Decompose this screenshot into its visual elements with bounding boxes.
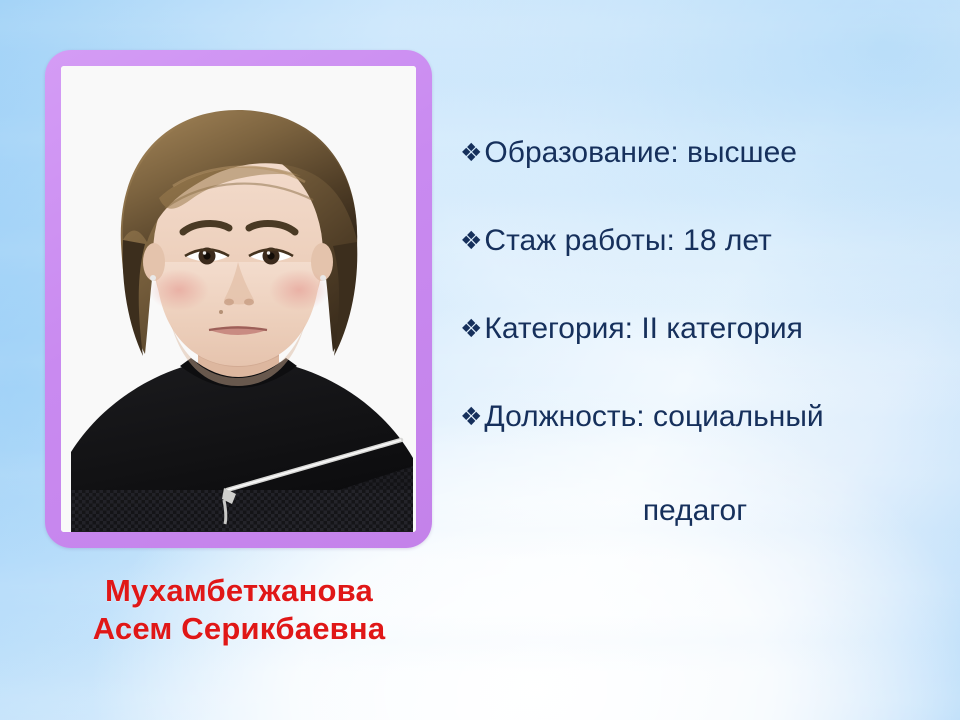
diamond-cluster-bullet-icon: ❖: [460, 398, 482, 436]
list-item-education-text: Образование: высшее: [484, 134, 797, 172]
list-item-experience-text: Стаж работы: 18 лет: [484, 222, 771, 260]
list-item-experience: ❖ Стаж работы: 18 лет: [460, 222, 930, 260]
person-name: Мухамбетжанова Асем Серикбаевна: [24, 572, 454, 648]
list-item-position-text: Должность: социальный: [484, 398, 823, 436]
photo-frame: [45, 50, 432, 548]
list-item-education: ❖ Образование: высшее: [460, 134, 930, 172]
slide-canvas: Мухамбетжанова Асем Серикбаевна ❖ Образо…: [0, 0, 960, 720]
details-list: ❖ Образование: высшее ❖ Стаж работы: 18 …: [460, 134, 930, 436]
photo-inner: [61, 66, 416, 532]
list-item-category-text: Категория: II категория: [484, 310, 802, 348]
list-item-position: ❖ Должность: социальный: [460, 398, 930, 436]
list-item-position-continuation: педагог: [460, 492, 930, 530]
list-item-category: ❖ Категория: II категория: [460, 310, 930, 348]
person-name-line-1: Мухамбетжанова: [24, 572, 454, 610]
diamond-cluster-bullet-icon: ❖: [460, 134, 482, 172]
diamond-cluster-bullet-icon: ❖: [460, 310, 482, 348]
diamond-cluster-bullet-icon: ❖: [460, 222, 482, 260]
person-name-line-2: Асем Серикбаевна: [24, 610, 454, 648]
portrait-photo: [61, 66, 416, 532]
